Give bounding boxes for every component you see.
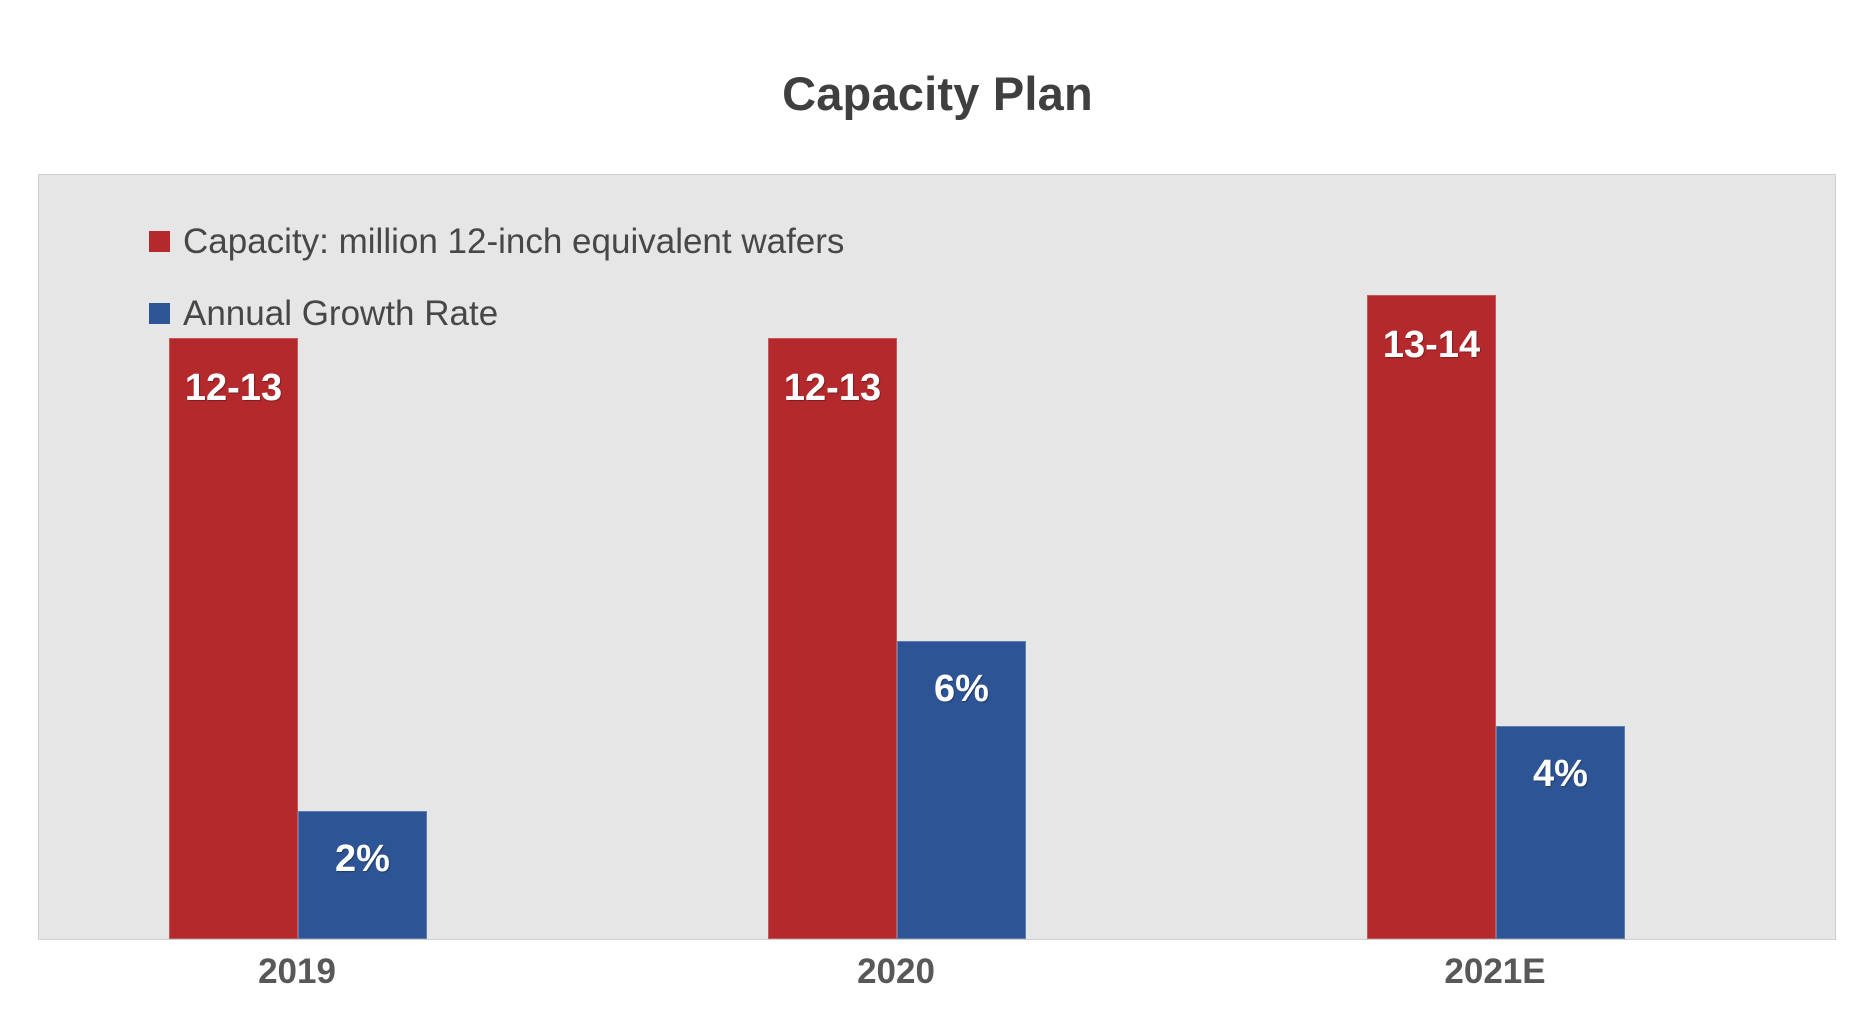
- bar-value-capacity-2019: 12-13: [170, 367, 297, 410]
- category-label-2021e: 2021E: [1366, 952, 1624, 992]
- bar-capacity-2019[interactable]: 12-13: [169, 338, 298, 939]
- bar-value-capacity-2021e: 13-14: [1368, 324, 1495, 367]
- bar-value-growth-2021e: 4%: [1497, 753, 1624, 796]
- bar-growth-2021e[interactable]: 4%: [1496, 726, 1625, 939]
- legend-item-growth[interactable]: Annual Growth Rate: [149, 290, 844, 336]
- category-axis: 2019 2020 2021E: [38, 952, 1836, 1012]
- legend-label-capacity: Capacity: million 12-inch equivalent waf…: [183, 224, 844, 259]
- chart-legend: Capacity: million 12-inch equivalent waf…: [149, 218, 844, 362]
- page-title: Capacity Plan: [0, 66, 1875, 121]
- bar-growth-2020[interactable]: 6%: [897, 641, 1026, 939]
- category-label-2020: 2020: [767, 952, 1025, 992]
- bar-group-2021e: 13-14 4%: [1237, 175, 1836, 939]
- legend-swatch-growth-icon: [149, 303, 170, 324]
- bar-capacity-2020[interactable]: 12-13: [768, 338, 897, 939]
- bar-capacity-2021e[interactable]: 13-14: [1367, 295, 1496, 939]
- bar-growth-2019[interactable]: 2%: [298, 811, 427, 939]
- bar-value-capacity-2020: 12-13: [769, 367, 896, 410]
- bar-value-growth-2020: 6%: [898, 668, 1025, 711]
- legend-item-capacity[interactable]: Capacity: million 12-inch equivalent waf…: [149, 218, 844, 264]
- plot-area: Capacity: million 12-inch equivalent waf…: [38, 174, 1836, 940]
- legend-label-growth: Annual Growth Rate: [183, 296, 498, 331]
- category-label-2019: 2019: [168, 952, 426, 992]
- bar-value-growth-2019: 2%: [299, 838, 426, 881]
- legend-swatch-capacity-icon: [149, 231, 170, 252]
